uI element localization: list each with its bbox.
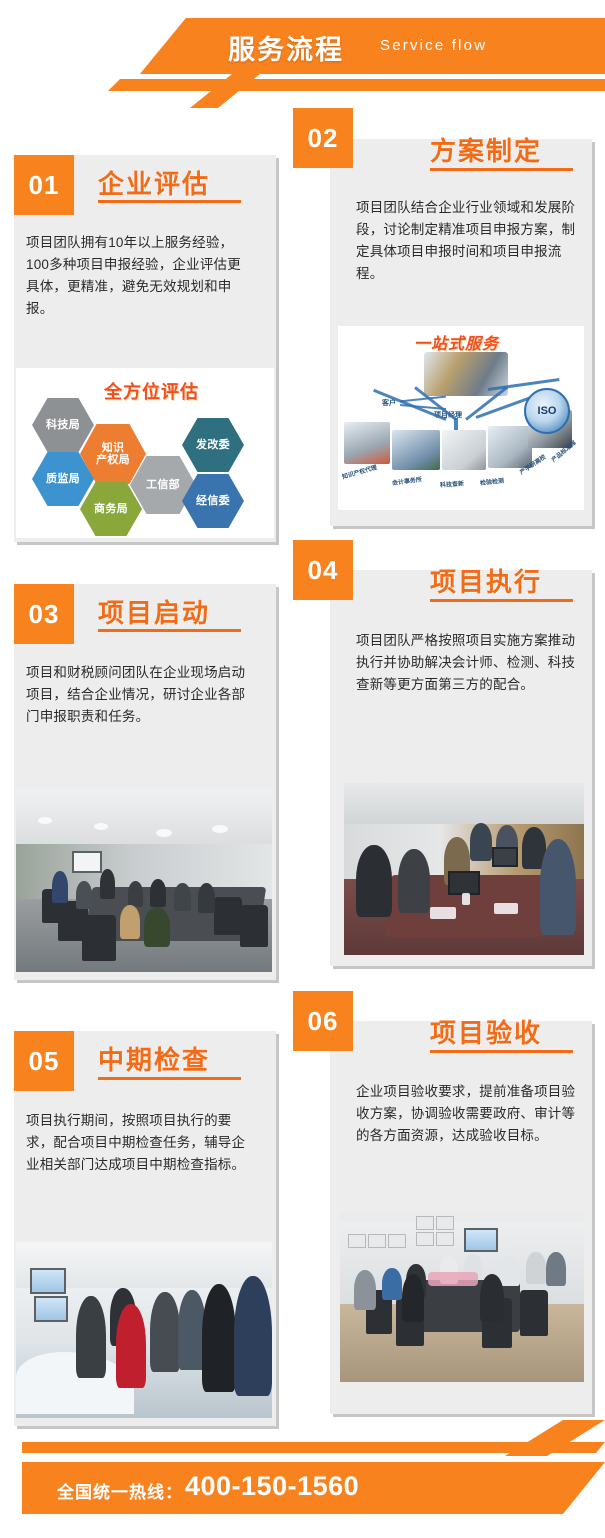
- card-number-04: 04: [308, 555, 339, 586]
- hex-node-label: 知识 产权局: [96, 442, 130, 467]
- photo-person: [76, 881, 92, 909]
- photo-certificate: [416, 1216, 434, 1230]
- card-number-06: 06: [308, 1006, 339, 1037]
- card-title-05: 中期检查: [98, 1040, 210, 1077]
- photo-paper: [430, 907, 456, 919]
- one-stop-node-label: 会计事务所: [391, 474, 422, 487]
- card-body-01: 项目团队拥有10年以上服务经验，100多种项目申报经验，企业评估更具体，更精准，…: [26, 232, 250, 319]
- hex-node-shangwuju: 商务局: [80, 482, 142, 536]
- card-number-badge-06: 06: [293, 991, 353, 1051]
- card-body-04: 项目团队严格按照项目实施方案推动执行并协助解决会计师、检测、科技查新等更方面第三…: [356, 630, 580, 696]
- photo-person: [546, 1252, 566, 1286]
- photo-person: [150, 879, 166, 907]
- photo-paper: [494, 903, 518, 914]
- photo-person: [52, 871, 68, 903]
- photo-person: [76, 1296, 106, 1378]
- photo-person: [116, 1304, 146, 1388]
- photo-person: [100, 869, 115, 899]
- iso-seal-label: ISO: [538, 405, 557, 417]
- photo-person: [480, 1274, 504, 1322]
- photo-person: [356, 845, 392, 917]
- card-number-badge-04: 04: [293, 540, 353, 600]
- photo-light: [38, 817, 52, 824]
- hex-node-label: 商务局: [94, 503, 128, 515]
- photo-chair: [214, 897, 242, 935]
- photo-person: [128, 881, 143, 907]
- footer-stripe: [22, 1442, 605, 1453]
- hex-node-label: 发改委: [196, 439, 230, 451]
- photo-chair: [520, 1290, 548, 1336]
- photo-person: [174, 883, 191, 911]
- photo-conference-room-03: [16, 789, 272, 972]
- photo-site-visit-05: [16, 1242, 272, 1418]
- photo-inner: [340, 1212, 584, 1382]
- card-title-06: 项目验收: [430, 1013, 542, 1050]
- card-title-03: 项目启动: [98, 593, 210, 630]
- photo-certificate: [348, 1234, 366, 1248]
- photo-inner: [16, 1242, 272, 1418]
- card-title-rule-03: [98, 629, 241, 632]
- photo-person: [382, 1268, 402, 1300]
- hex-node-label: 科技局: [46, 419, 80, 431]
- card-title-rule-04: [430, 599, 573, 602]
- photo-ceiling: [16, 789, 272, 851]
- card-number-badge-02: 02: [293, 108, 353, 168]
- card-number-badge-05: 05: [14, 1031, 74, 1091]
- photo-projection-screen: [464, 1228, 498, 1252]
- photo-light: [156, 829, 172, 837]
- card-title-rule-05: [98, 1077, 241, 1080]
- photo-person: [202, 1284, 236, 1392]
- photo-chair: [82, 915, 116, 961]
- card-body-03: 项目和财税顾问团队在企业现场启动项目，结合企业情况，研讨企业各部门申报职责和任务…: [26, 662, 250, 728]
- photo-display-monitor: [30, 1268, 66, 1294]
- photo-laptop: [492, 847, 518, 867]
- photo-working-meeting-04: [344, 783, 584, 955]
- hotline-number: 400-150-1560: [185, 1471, 359, 1502]
- card-number-01: 01: [29, 170, 60, 201]
- photo-display-monitor: [34, 1296, 68, 1322]
- photo-light: [94, 823, 108, 830]
- card-title-rule-06: [430, 1050, 573, 1053]
- iso-seal-icon: ISO: [524, 388, 570, 434]
- card-number-02: 02: [308, 123, 339, 154]
- hotline-label: 全国统一热线：: [57, 1478, 183, 1503]
- one-stop-node-photo: [392, 430, 440, 470]
- one-stop-node-photo: [442, 430, 486, 470]
- card-number-badge-03: 03: [14, 584, 74, 644]
- photo-flowers: [428, 1272, 478, 1286]
- one-stop-node-label: 科技查新: [440, 478, 465, 489]
- photo-person: [540, 839, 576, 935]
- page-footer: 全国统一热线： 400-150-1560: [0, 1420, 605, 1538]
- photo-person: [234, 1276, 272, 1396]
- card-title-rule-02: [430, 168, 573, 171]
- photo-certificate: [436, 1232, 454, 1246]
- hex-node-fagaiwei: 发改委: [182, 418, 244, 472]
- one-stop-node-photo: [344, 422, 390, 464]
- photo-person: [470, 823, 492, 861]
- photo-person: [354, 1270, 376, 1310]
- card-body-02: 项目团队结合企业行业领域和发展阶段，讨论制定精准项目申报方案，制定具体项目申报时…: [356, 197, 580, 284]
- photo-chair: [240, 905, 268, 947]
- page-header: 服务流程 Service flow: [0, 0, 605, 108]
- photo-large-meeting-06: [340, 1212, 584, 1382]
- photo-laptop: [448, 871, 480, 895]
- card-number-badge-01: 01: [14, 155, 74, 215]
- card-title-02: 方案制定: [430, 131, 542, 168]
- photo-certificate: [368, 1234, 386, 1248]
- card-title-rule-01: [98, 200, 241, 203]
- one-stop-node-label: 检验检测: [480, 476, 505, 487]
- header-underline-stripe: [108, 79, 605, 91]
- card-title-01: 企业评估: [98, 164, 210, 201]
- photo-cup: [462, 893, 470, 905]
- photo-person: [144, 907, 170, 947]
- photo-person: [150, 1292, 180, 1372]
- photo-person: [198, 883, 215, 913]
- photo-person: [500, 1256, 520, 1286]
- photo-certificate: [416, 1232, 434, 1246]
- card-body-05: 项目执行期间，按照项目执行的要求，配合项目中期检查任务，辅导企业相关部门达成项目…: [26, 1110, 250, 1176]
- hex-node-keji: 科技局: [32, 398, 94, 452]
- hex-node-label: 工信部: [146, 479, 180, 491]
- hex-figure-title: 全方位评估: [104, 378, 199, 404]
- card-body-06: 企业项目验收要求，提前准备项目验收方案，协调验收需要政府、审计等的各方面资源，达…: [356, 1081, 580, 1147]
- page-subtitle: Service flow: [380, 37, 487, 54]
- header-banner: [140, 18, 605, 74]
- card-number-05: 05: [29, 1046, 60, 1077]
- one-stop-node-label: 知识产权代理: [341, 462, 378, 481]
- photo-inner: [344, 783, 584, 955]
- photo-whiteboard: [72, 851, 102, 873]
- one-stop-service-figure: 一站式服务 客户 项目经理 ISO 知识产权代理 会计事务所 科技查新 检验检测…: [338, 326, 584, 510]
- one-stop-title: 一站式服务: [414, 330, 499, 354]
- one-stop-node-photo: [488, 426, 532, 468]
- photo-certificate: [436, 1216, 454, 1230]
- photo-certificate: [388, 1234, 406, 1248]
- card-number-03: 03: [29, 599, 60, 630]
- photo-person: [526, 1252, 546, 1284]
- photo-person: [402, 1274, 424, 1322]
- hex-node-label: 经信委: [196, 495, 230, 507]
- hex-node-label: 质监局: [46, 473, 80, 485]
- photo-light: [212, 825, 228, 833]
- photo-inner: [16, 789, 272, 972]
- assessment-hex-figure: 全方位评估 科技局 知识 产权局 发改委 质监局 工信部 商务局 经信委: [16, 368, 274, 538]
- page-title: 服务流程: [228, 28, 344, 67]
- photo-person: [398, 849, 430, 913]
- card-title-04: 项目执行: [430, 562, 542, 599]
- photo-person: [120, 905, 140, 939]
